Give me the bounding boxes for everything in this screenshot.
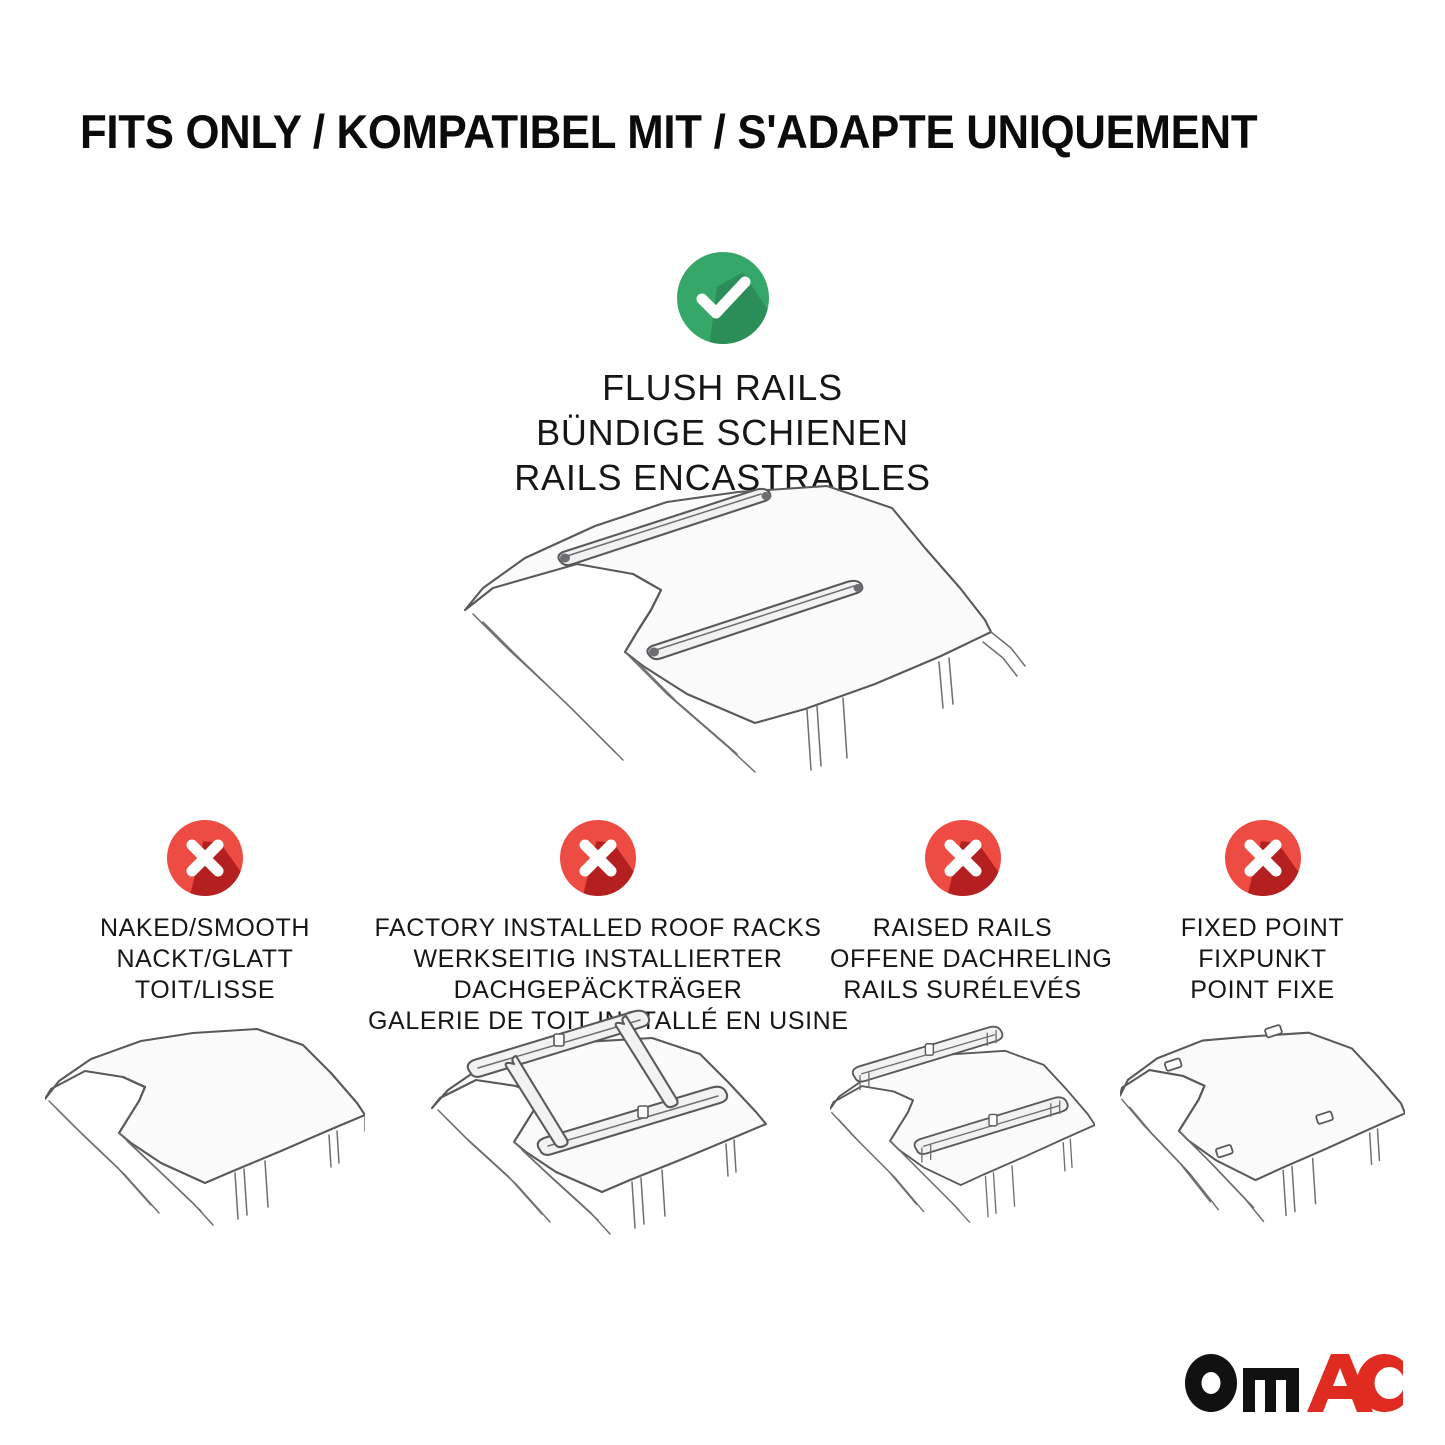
label-line-de: OFFENE DACHRELING bbox=[830, 944, 1095, 975]
incompatible-section: NAKED/SMOOTH NACKT/GLATT TOIT/LISSE bbox=[0, 820, 1445, 1280]
omac-logo bbox=[1183, 1352, 1403, 1414]
incompatible-item-naked-smooth: NAKED/SMOOTH NACKT/GLATT TOIT/LISSE bbox=[45, 820, 365, 1006]
compatible-label-de: BÜNDIGE SCHIENEN bbox=[0, 410, 1445, 455]
logo-letter-o bbox=[1185, 1354, 1237, 1412]
incompatible-labels: RAISED RAILS OFFENE DACHRELING RAILS SUR… bbox=[830, 913, 1095, 1006]
incompatible-item-fixed-point: FIXED POINT FIXPUNKT POINT FIXE bbox=[1120, 820, 1405, 1006]
label-line-en: FACTORY INSTALLED ROOF RACKS bbox=[368, 913, 828, 944]
page-title: FITS ONLY / KOMPATIBEL MIT / S'ADAPTE UN… bbox=[80, 104, 1289, 160]
label-line-fr: POINT FIXE bbox=[1120, 975, 1405, 1006]
compatible-section: FLUSH RAILS BÜNDIGE SCHIENEN RAILS ENCAS… bbox=[0, 252, 1445, 500]
check-circle-icon bbox=[677, 252, 769, 344]
car-roof-naked-smooth-illustration bbox=[45, 1015, 365, 1245]
label-line-en: FIXED POINT bbox=[1120, 913, 1405, 944]
label-line-de-1: WERKSEITIG INSTALLIERTER bbox=[368, 944, 828, 975]
label-line-fr: TOIT/LISSE bbox=[45, 975, 365, 1006]
logo-letter-m bbox=[1243, 1368, 1299, 1412]
cross-circle-icon bbox=[1225, 820, 1301, 896]
label-line-en: NAKED/SMOOTH bbox=[45, 913, 365, 944]
label-line-fr: RAILS SURÉLEVÉS bbox=[830, 975, 1095, 1006]
incompatible-item-factory-roof-racks: FACTORY INSTALLED ROOF RACKS WERKSEITIG … bbox=[368, 820, 828, 1037]
car-roof-fixed-point-illustration bbox=[1120, 1015, 1405, 1245]
cross-circle-icon bbox=[560, 820, 636, 896]
incompatible-item-raised-rails: RAISED RAILS OFFENE DACHRELING RAILS SUR… bbox=[830, 820, 1095, 1006]
label-line-de: FIXPUNKT bbox=[1120, 944, 1405, 975]
car-roof-factory-roof-racks-illustration bbox=[368, 998, 828, 1245]
compatible-label-en: FLUSH RAILS bbox=[0, 365, 1445, 410]
cross-circle-icon bbox=[925, 820, 1001, 896]
car-roof-with-flush-rails-illustration bbox=[455, 470, 1045, 780]
incompatible-labels: FIXED POINT FIXPUNKT POINT FIXE bbox=[1120, 913, 1405, 1006]
compatibility-infographic: FITS ONLY / KOMPATIBEL MIT / S'ADAPTE UN… bbox=[0, 0, 1445, 1445]
label-line-en: RAISED RAILS bbox=[830, 913, 1095, 944]
cross-circle-icon bbox=[167, 820, 243, 896]
label-line-de: NACKT/GLATT bbox=[45, 944, 365, 975]
incompatible-labels: NAKED/SMOOTH NACKT/GLATT TOIT/LISSE bbox=[45, 913, 365, 1006]
car-roof-raised-rails-illustration bbox=[830, 1005, 1095, 1245]
